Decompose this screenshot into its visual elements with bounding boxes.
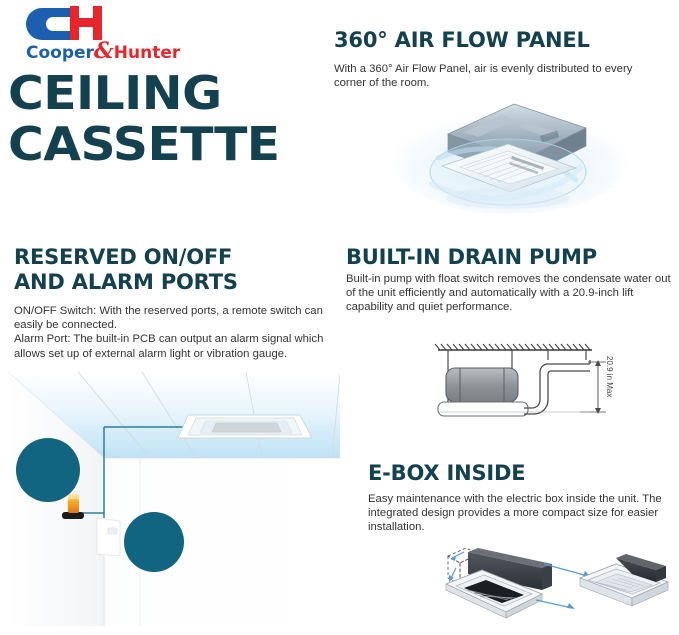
callout-circle-bottom <box>124 512 184 572</box>
logo-wordmark: Cooper&Hunter <box>26 42 180 62</box>
cooper-hunter-logo: Cooper&Hunter <box>26 4 176 60</box>
section-heading-ebox: E-BOX INSIDE <box>368 461 668 486</box>
ceiling-cassette-airflow-render <box>390 92 630 217</box>
page-title-line1: CEILING <box>8 68 347 119</box>
infographic-page: Cooper&Hunter CEILING CASSETTE 360° AIR … <box>0 0 679 628</box>
drain-pump-lift-diagram <box>420 330 660 450</box>
callout-circle-top <box>16 438 80 502</box>
page-title-line2: CASSETTE <box>8 119 347 170</box>
section-body-ports: ON/OFF Switch: With the reserved ports, … <box>14 304 336 361</box>
logo-word-ampersand: & <box>94 38 114 64</box>
ebox-svg <box>420 538 679 630</box>
logo-mark <box>26 4 176 40</box>
wall-switch-box <box>97 518 120 556</box>
logo-ch-glyphs <box>26 4 176 42</box>
room-diagram-svg <box>0 358 340 628</box>
ebox-unit-open <box>446 548 552 618</box>
logo-word-cooper: Cooper <box>26 43 94 63</box>
page-title: CEILING CASSETTE <box>8 68 347 170</box>
drain-pump-svg <box>420 330 660 450</box>
section-heading-ports-line2: AND ALARM PORTS <box>14 270 334 295</box>
airflow-illustration <box>390 92 630 217</box>
section-body-pump: Built-in pump with float switch removes … <box>346 272 674 315</box>
section-heading-ports: RESERVED ON/OFF AND ALARM PORTS <box>14 245 334 295</box>
section-heading-ports-line1: RESERVED ON/OFF <box>14 245 334 270</box>
e-box-exploded-diagram <box>420 538 679 630</box>
section-body-ebox: Easy maintenance with the electric box i… <box>368 492 668 535</box>
section-heading-pump: BUILT-IN DRAIN PUMP <box>346 245 676 270</box>
room-installation-diagram <box>0 358 340 628</box>
section-heading-airflow: 360° AIR FLOW PANEL <box>334 28 664 53</box>
section-body-airflow: With a 360° Air Flow Panel, air is evenl… <box>334 62 666 90</box>
ceiling-cassette-unit <box>178 415 312 438</box>
pump-dimension-label: 20.9 in Max <box>605 356 614 397</box>
ebox-unit-integrated <box>580 554 668 606</box>
logo-word-hunter: Hunter <box>114 43 180 63</box>
